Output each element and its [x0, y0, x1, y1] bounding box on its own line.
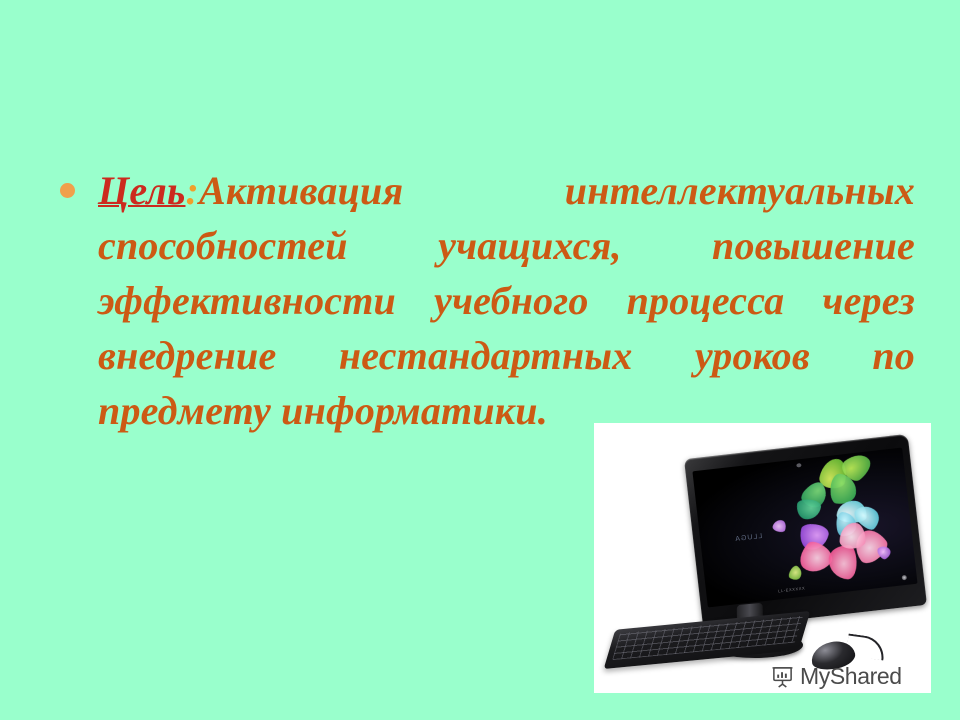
- power-led-icon: [902, 575, 908, 581]
- bullet-row: Цель:Активация интеллектуальных способно…: [60, 163, 915, 438]
- watermark-label: MyShared: [800, 665, 902, 688]
- bullet-marker-icon: [60, 183, 75, 198]
- petal-pink-2: [828, 544, 858, 580]
- text-line-1: Цель:Активация интеллектуальных: [98, 163, 915, 218]
- slide-canvas: Цель:Активация интеллектуальных способно…: [0, 0, 960, 720]
- petal-violet-small-1: [771, 518, 787, 534]
- text-line-3: эффективности учебного процесса через: [98, 273, 915, 328]
- monitor-graphic: LLUGA LL-EXXXXX: [684, 434, 927, 630]
- text-line-4: внедрение нестандартных уроков по: [98, 328, 915, 383]
- monitor-brand-text: LLUGA: [734, 532, 763, 542]
- myshared-watermark: MyShared: [771, 665, 902, 688]
- bullet-content-block: Цель:Активация интеллектуальных способно…: [60, 163, 915, 438]
- goal-paragraph: Цель:Активация интеллектуальных способно…: [60, 163, 915, 438]
- petal-green-5: [795, 498, 822, 521]
- text-line-1-rest: Активация интеллектуальных: [199, 168, 915, 213]
- goal-label: Цель: [98, 168, 185, 213]
- monitor-model-text: LL-EXXXXX: [778, 585, 806, 593]
- presentation-chart-icon: [771, 665, 794, 688]
- webcam-icon: [796, 463, 801, 468]
- goal-colon: :: [185, 168, 199, 213]
- text-line-2: способностей учащихся, повышение: [98, 218, 915, 273]
- computer-photo-inner: LLUGA LL-EXXXXX: [595, 424, 930, 692]
- monitor-screen: LLUGA LL-EXXXXX: [692, 448, 917, 608]
- computer-photo: LLUGA LL-EXXXXX: [595, 424, 930, 692]
